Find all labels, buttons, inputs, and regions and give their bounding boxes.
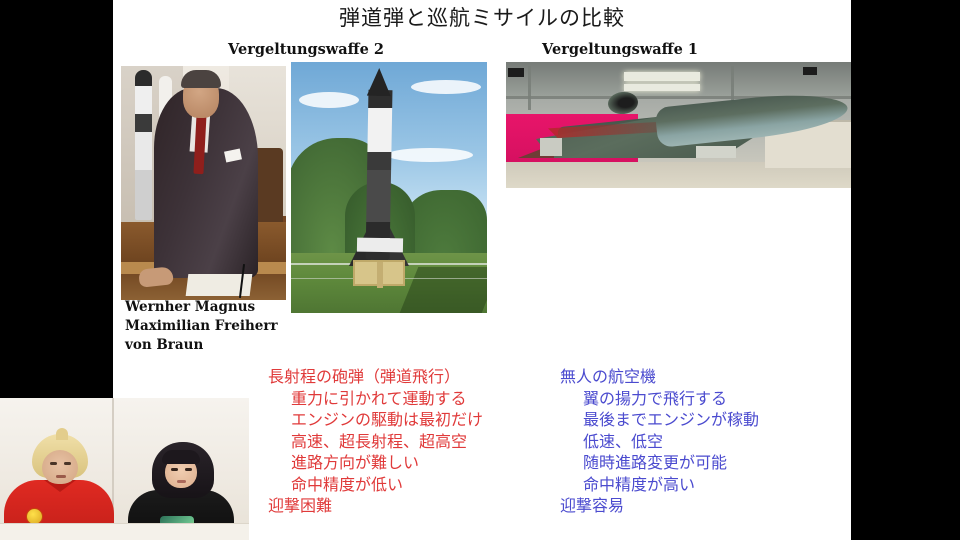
- bullet-item: 命中精度が低い: [268, 474, 483, 496]
- caption-line-3: von Braun: [125, 336, 305, 355]
- rocket-image-v2: [291, 62, 487, 313]
- rocket-white-band: [357, 238, 403, 253]
- presenter-right-eye-right: [185, 468, 192, 471]
- bullet-item: 随時進路変更が可能: [560, 452, 759, 474]
- bullet-list-cruise: 無人の航空機 翼の揚力で飛行する 最後までエンジンが稼動 低速、低空 随時進路変…: [560, 366, 759, 517]
- portrait-rocket-model-1: [135, 70, 152, 220]
- bullet-item: 最後までエンジンが稼動: [560, 409, 759, 431]
- portrait-hair: [181, 70, 221, 88]
- ceiling-fixture-left: [508, 68, 524, 77]
- screen: 弾道弾と巡航ミサイルの比較 Vergeltungswaffe 2 Vergelt…: [0, 0, 960, 540]
- cloud-2: [411, 80, 481, 94]
- bullet-item: 高速、超長射程、超高空: [268, 431, 483, 453]
- bullet-item: 命中精度が高い: [560, 474, 759, 496]
- presenter-left-face: [42, 450, 78, 484]
- ceiling-light-1: [624, 72, 700, 81]
- bullet-item: 迎撃容易: [560, 495, 759, 517]
- presenter-right-eye-left: [171, 468, 178, 471]
- webcam-overlay[interactable]: [0, 398, 249, 540]
- rocket-nose-cone: [367, 68, 391, 96]
- bullet-item: 無人の航空機: [560, 366, 759, 388]
- portrait-caption: Wernher Magnus Maximilian Freiherr von B…: [125, 298, 305, 355]
- portrait-image-von-braun: [121, 66, 286, 300]
- desk-surface: [0, 523, 249, 540]
- ceiling-fixture-right: [803, 67, 817, 75]
- presenter-left-hair-tuft: [56, 428, 68, 440]
- cloud-1: [299, 92, 359, 108]
- page-title: 弾道弾と巡航ミサイルの比較: [113, 2, 851, 32]
- presenter-left-mouth: [56, 475, 66, 478]
- cloud-3: [387, 148, 473, 162]
- ceiling-beam-left: [528, 66, 531, 110]
- column-heading-right: Vergeltungswaffe 1: [495, 41, 745, 58]
- caption-line-2: Maximilian Freiherr: [125, 317, 305, 336]
- caption-line-1: Wernher Magnus: [125, 298, 305, 317]
- column-heading-left: Vergeltungswaffe 2: [206, 41, 406, 58]
- ceiling-light-2: [624, 84, 700, 91]
- bullet-item: 翼の揚力で飛行する: [560, 388, 759, 410]
- bullet-item: 低速、低空: [560, 431, 759, 453]
- presenter-left-eye-left: [50, 462, 57, 465]
- bullet-item: 迎撃困難: [268, 495, 483, 517]
- bullet-item: 重力に引かれて運動する: [268, 388, 483, 410]
- ceiling-beam-right: [731, 66, 734, 100]
- bullet-item: 進路方向が難しい: [268, 452, 483, 474]
- flying-bomb-image-v1: [506, 62, 851, 188]
- display-mount-left: [540, 138, 562, 156]
- presenter-right-bangs: [162, 450, 200, 464]
- display-mount-right: [696, 146, 736, 158]
- portrait-hand: [138, 266, 174, 287]
- bullet-list-ballistic: 長射程の砲弾（弾道飛行） 重力に引かれて運動する エンジンの駆動は最初だけ 高速…: [268, 366, 483, 517]
- presenter-left-eye-right: [64, 462, 71, 465]
- rocket-body: [366, 90, 393, 260]
- rocket-wooden-cradle: [353, 260, 405, 286]
- presenter-right-mouth: [177, 480, 186, 483]
- bullet-item: エンジンの駆動は最初だけ: [268, 409, 483, 431]
- bullet-item: 長射程の砲弾（弾道飛行）: [268, 366, 483, 388]
